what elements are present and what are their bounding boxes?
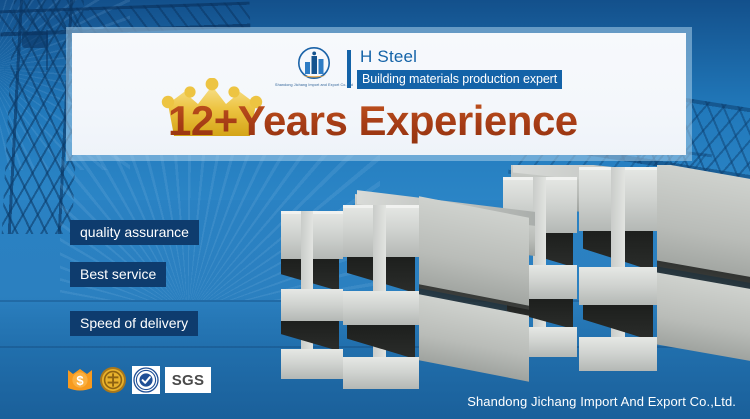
headline-text: 12+Years Experience <box>168 97 578 145</box>
feature-label-quality: quality assurance <box>70 220 199 245</box>
brand-title: H Steel <box>360 47 417 67</box>
trade-assurance-badge[interactable] <box>99 366 127 394</box>
brand-divider <box>347 50 351 88</box>
svg-text:$: $ <box>76 373 84 388</box>
gold-supplier-badge[interactable]: $ <box>66 366 94 394</box>
feature-label-service: Best service <box>70 262 166 287</box>
promotional-banner: Shandong Jichang Import and Export Co.,L… <box>0 0 750 419</box>
dollar-shield-icon: $ <box>66 366 94 394</box>
sgs-badge[interactable]: SGS <box>165 367 211 393</box>
gold-coin-icon <box>99 366 127 394</box>
check-seal-icon <box>132 366 160 394</box>
brand-tagline: Building materials production expert <box>357 70 562 89</box>
footer-company-name: Shandong Jichang Import And Export Co.,L… <box>467 394 736 409</box>
building-logo-icon <box>294 46 334 82</box>
company-logo: Shandong Jichang Import and Export Co.,L… <box>275 46 353 94</box>
verified-seal-badge[interactable] <box>132 366 160 394</box>
certification-badges: $ SGS <box>66 366 211 394</box>
product-image-h-beams <box>281 165 750 397</box>
logo-caption: Shandong Jichang Import and Export Co.,L… <box>275 83 353 89</box>
feature-label-delivery: Speed of delivery <box>70 311 198 336</box>
